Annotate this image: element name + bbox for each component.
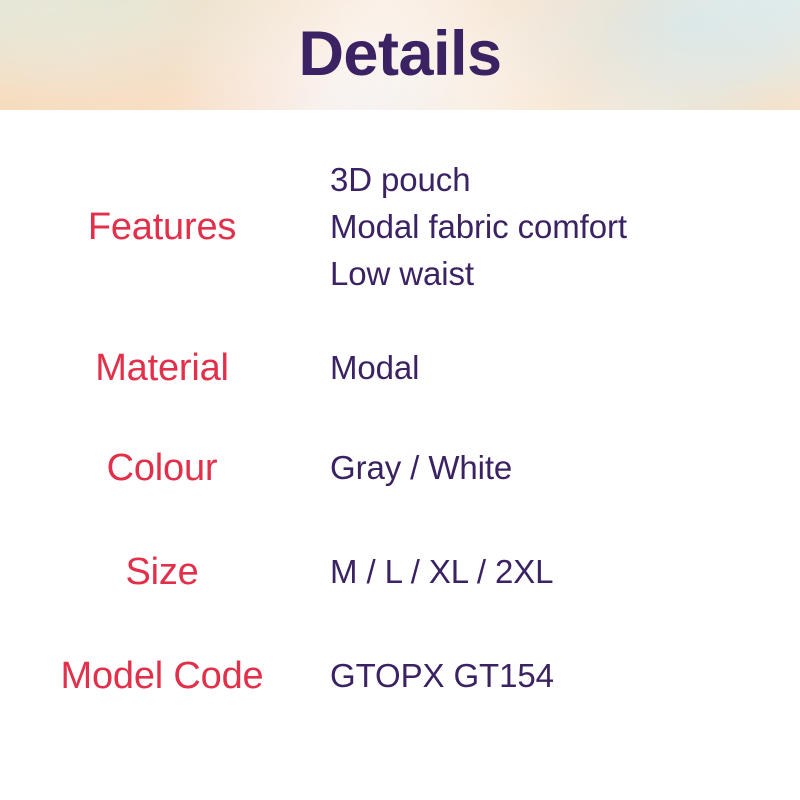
spec-value-line: Low waist: [330, 250, 800, 297]
spec-label-material: Material: [0, 344, 330, 392]
spec-row-size: Size M / L / XL / 2XL: [0, 492, 800, 596]
spec-value-line: Modal fabric comfort: [330, 203, 800, 250]
spec-value-line: GTOPX GT154: [330, 652, 800, 699]
details-page: Details Features 3D pouch Modal fabric c…: [0, 0, 800, 800]
spec-value-line: M / L / XL / 2XL: [330, 548, 800, 595]
spec-row-model-code: Model Code GTOPX GT154: [0, 596, 800, 700]
spec-label-colour: Colour: [0, 444, 330, 492]
spec-row-colour: Colour Gray / White: [0, 392, 800, 492]
spec-value-line: Gray / White: [330, 444, 800, 491]
spec-row-material: Material Modal: [0, 297, 800, 392]
spec-label-features: Features: [0, 156, 330, 251]
page-title: Details: [0, 14, 800, 94]
page-header: Details: [0, 0, 800, 110]
spec-value-features: 3D pouch Modal fabric comfort Low waist: [330, 156, 800, 297]
specification-table: Features 3D pouch Modal fabric comfort L…: [0, 110, 800, 700]
spec-value-model-code: GTOPX GT154: [330, 652, 800, 699]
spec-value-colour: Gray / White: [330, 444, 800, 491]
spec-label-size: Size: [0, 548, 330, 596]
spec-value-size: M / L / XL / 2XL: [330, 548, 800, 595]
spec-value-line: 3D pouch: [330, 156, 800, 203]
spec-label-model-code: Model Code: [0, 652, 330, 700]
spec-row-features: Features 3D pouch Modal fabric comfort L…: [0, 110, 800, 297]
spec-value-line: Modal: [330, 344, 800, 391]
spec-value-material: Modal: [330, 344, 800, 391]
